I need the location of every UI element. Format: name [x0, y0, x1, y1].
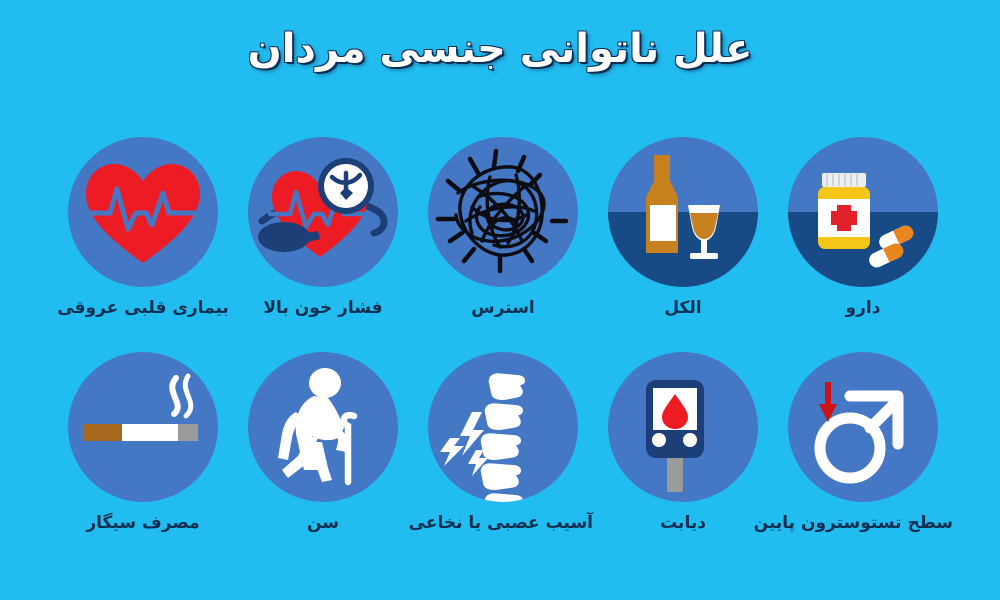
cause-card-high-blood-pressure[interactable]: فشار خون بالا	[233, 137, 413, 319]
alcohol-bottle-glass-icon	[608, 137, 758, 287]
cause-label: مصرف سیگار	[53, 513, 233, 534]
cause-label: بیماری قلبی عروقی	[53, 298, 233, 319]
icon-disc-stress	[428, 137, 578, 287]
cause-card-alcohol[interactable]: الکل	[593, 137, 773, 319]
blood-pressure-icon	[248, 137, 398, 287]
cause-card-nerve-spinal-injury[interactable]: آسیب عصبی یا نخاعی	[413, 352, 593, 534]
cause-label: دیابت	[593, 513, 773, 534]
cause-label: سطح تستوسترون پایین	[773, 513, 953, 534]
glucose-meter-icon	[608, 352, 758, 502]
cause-card-low-testosterone[interactable]: سطح تستوسترون پایین	[773, 352, 953, 534]
stress-scribble-icon	[428, 137, 578, 287]
icon-disc-medication	[788, 137, 938, 287]
icon-disc-diabetes	[608, 352, 758, 502]
male-symbol-down-arrow-icon	[788, 352, 938, 502]
cause-card-smoking[interactable]: مصرف سیگار	[53, 352, 233, 534]
icon-disc-nerve-spinal-injury	[428, 352, 578, 502]
cause-card-diabetes[interactable]: دیابت	[593, 352, 773, 534]
cause-label: استرس	[413, 298, 593, 319]
cause-card-medication[interactable]: دارو	[773, 137, 953, 319]
cause-card-stress[interactable]: استرس	[413, 137, 593, 319]
icon-disc-cardiovascular-disease	[68, 137, 218, 287]
cause-label: آسیب عصبی یا نخاعی	[413, 513, 593, 534]
icon-disc-alcohol	[608, 137, 758, 287]
spine-lightning-icon	[428, 352, 578, 502]
pill-bottle-icon	[788, 137, 938, 287]
cause-label: دارو	[773, 298, 953, 319]
heart-ecg-icon	[68, 137, 218, 287]
cause-label: سن	[233, 513, 413, 534]
icon-disc-smoking	[68, 352, 218, 502]
elderly-person-cane-icon	[248, 352, 398, 502]
page-title: علل ناتوانی جنسی مردان	[0, 26, 1000, 72]
icon-disc-age	[248, 352, 398, 502]
cigarette-icon	[68, 352, 218, 502]
cause-card-age[interactable]: سن	[233, 352, 413, 534]
infographic-canvas: علل ناتوانی جنسی مردان بیماری قلبی عروقی	[0, 0, 1000, 600]
cause-card-cardiovascular-disease[interactable]: بیماری قلبی عروقی	[53, 137, 233, 319]
icon-disc-low-testosterone	[788, 352, 938, 502]
cause-label: الکل	[593, 298, 773, 319]
cause-label: فشار خون بالا	[233, 298, 413, 319]
icon-disc-high-blood-pressure	[248, 137, 398, 287]
